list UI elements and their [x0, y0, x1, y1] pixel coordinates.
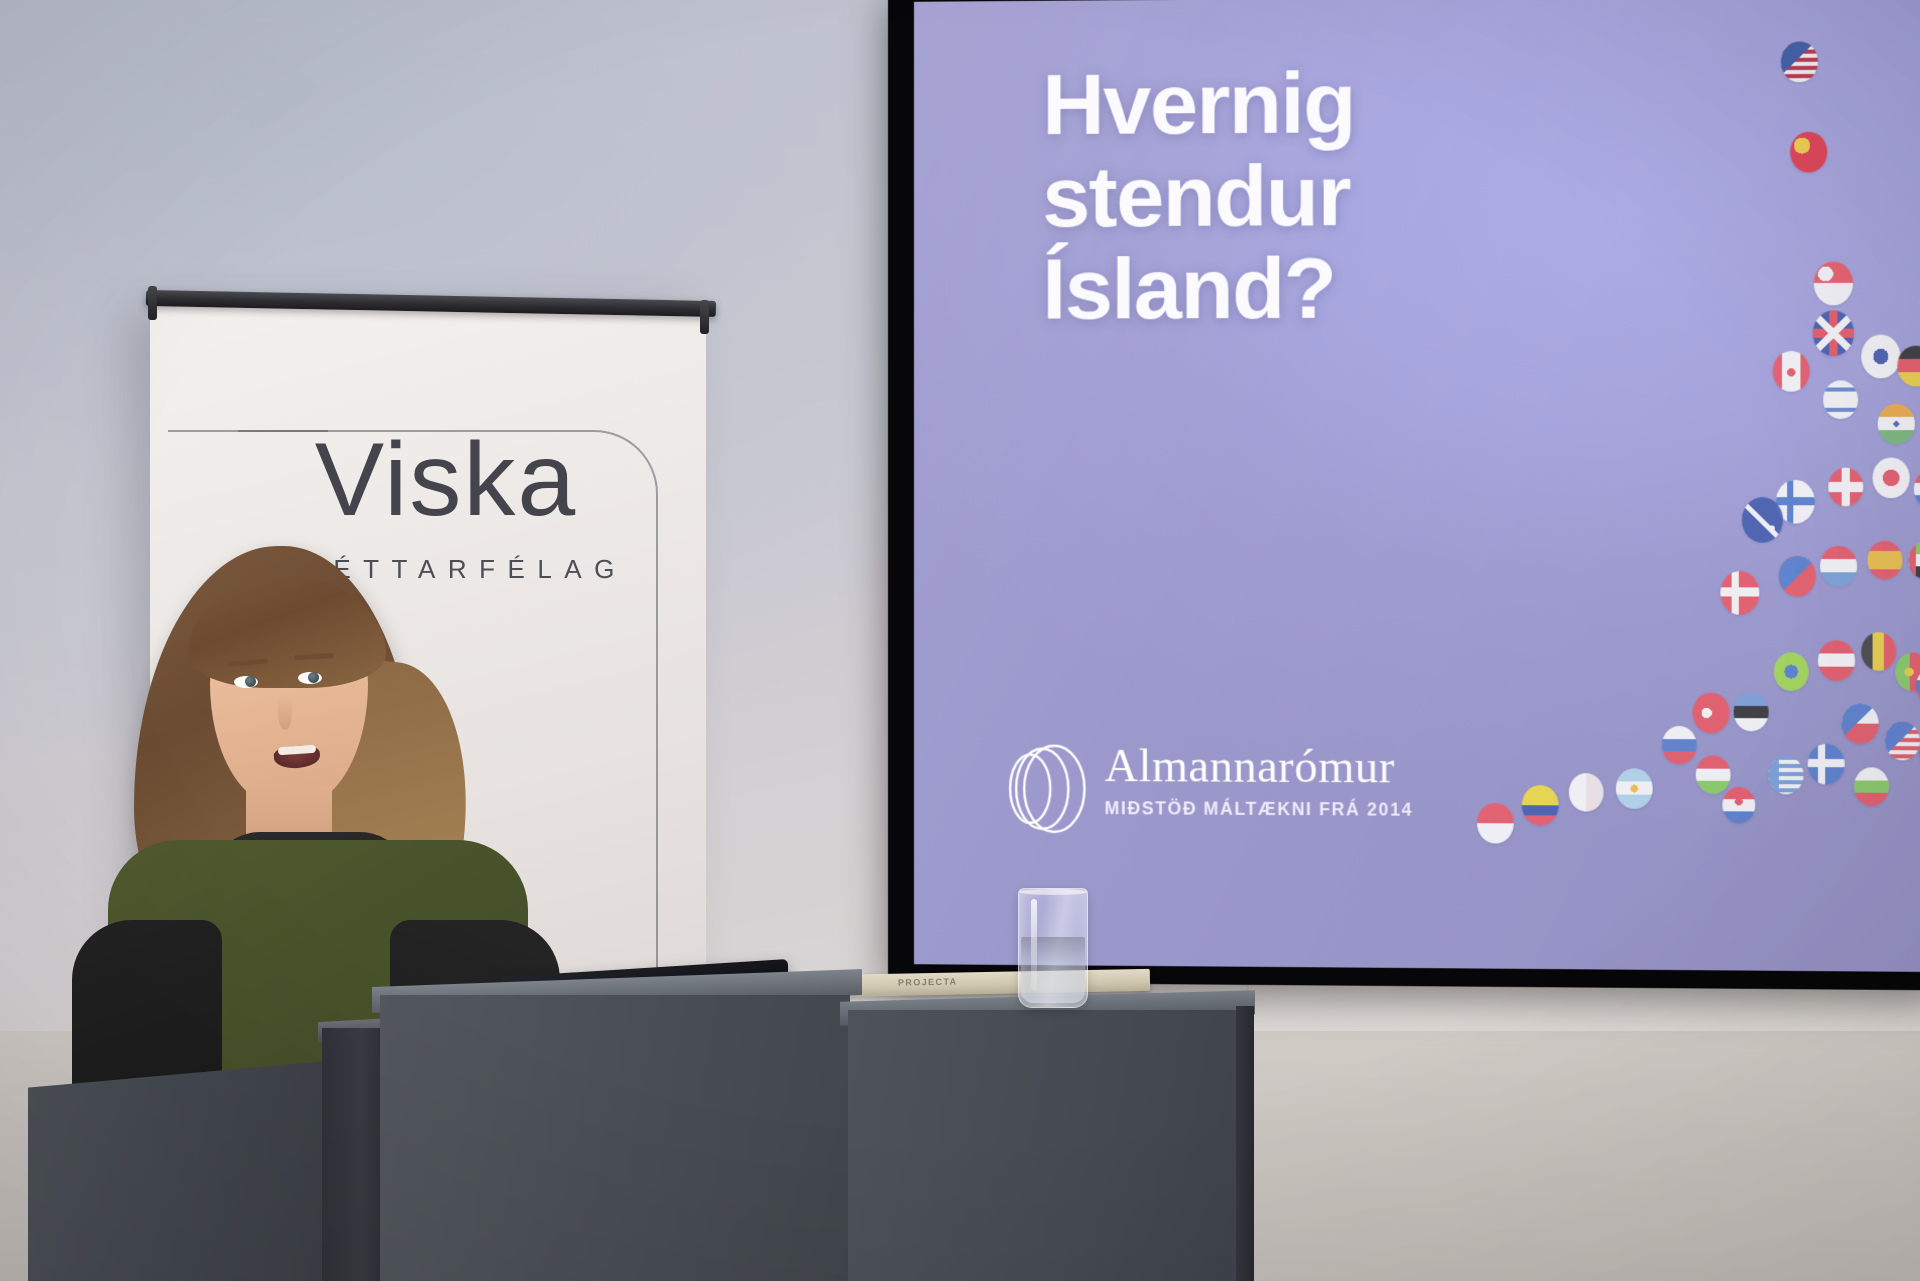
photo-scene: Viska STÉTTARFÉLAG Hvernig stendur Íslan… [0, 0, 1920, 1281]
projection-screen-surface: Hvernig stendur Ísland? Almannarómur [914, 0, 1920, 972]
table-edge-shadow [1236, 1006, 1254, 1281]
banner-rail-cap-right [700, 300, 709, 334]
viska-wordmark: Viska [150, 428, 706, 532]
presenter-pupil-right [308, 672, 319, 683]
lectern-main-block [380, 995, 850, 1281]
glass-rim [1019, 889, 1087, 895]
screen-sheen [914, 0, 1920, 972]
lectern-left-block [28, 1060, 338, 1281]
glass-highlight [1031, 899, 1037, 991]
water-glass[interactable] [1018, 888, 1088, 1008]
presenter-nose [278, 696, 292, 730]
lectern-mid-block [322, 1028, 388, 1281]
table-block [848, 1010, 1248, 1281]
projecta-brand-label: PROJECTA [898, 977, 958, 988]
banner-rail-cap-left [148, 286, 157, 320]
presenter-pupil-left [245, 676, 256, 687]
projection-screen-frame: Hvernig stendur Ísland? Almannarómur [888, 0, 1920, 990]
